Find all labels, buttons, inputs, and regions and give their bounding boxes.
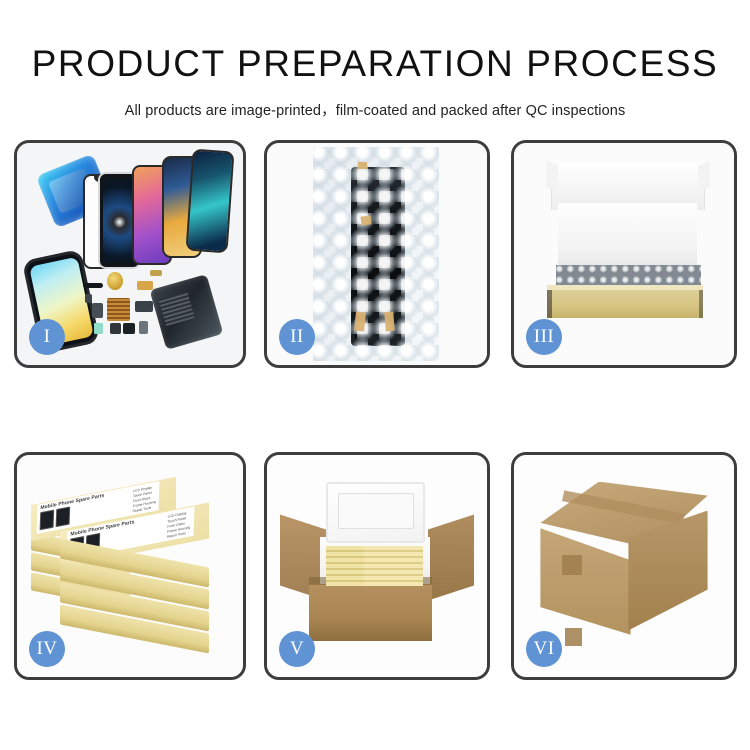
foam-box-lid <box>326 482 425 544</box>
part-flex-cable <box>137 281 153 290</box>
part-camera-module <box>110 323 121 334</box>
box-label-bullets-2: LCD Display Touch Panel Front Glass Fram… <box>167 511 191 541</box>
part-connector-grid <box>107 298 130 320</box>
process-step-6: VI <box>511 452 737 680</box>
tape-strip-top <box>358 162 367 168</box>
carton-tape-patch-lower <box>565 628 583 646</box>
part-shield-can <box>135 301 153 312</box>
product-preparation-infographic: PRODUCT PREPARATION PROCESS All products… <box>0 0 750 750</box>
carton-front-panel <box>309 584 432 642</box>
step-badge-2: II <box>279 319 315 355</box>
phone-gradient-teal <box>185 148 234 252</box>
process-step-1: I <box>14 140 246 368</box>
part-speaker <box>83 283 103 289</box>
tape-strip-middle <box>360 215 371 225</box>
process-step-grid: I II <box>0 0 750 750</box>
process-step-5: V <box>264 452 490 680</box>
process-step-3: III <box>511 140 737 368</box>
carton-flap-right <box>428 514 474 600</box>
kraft-box-base <box>547 290 703 319</box>
step-badge-6: VI <box>526 631 562 667</box>
yellow-boxes-row-front <box>364 546 423 586</box>
tape-strip-bottom-left <box>354 311 366 331</box>
carton-tape-patch-upper <box>562 555 582 575</box>
process-step-4: Mobile Phone Spare Parts LCD Display Tou… <box>14 452 246 680</box>
part-bracket <box>92 303 103 319</box>
bubble-wrap-bag <box>313 147 438 360</box>
tape-strip-bottom-right <box>384 311 394 331</box>
part-button <box>123 323 134 334</box>
step-badge-4: IV <box>29 631 65 667</box>
box-label-bullets-1: LCD Display Touch Panel Front Glass Fram… <box>133 484 157 514</box>
part-gold-contact <box>150 270 161 277</box>
part-antenna <box>85 294 92 303</box>
part-sim-tray <box>94 323 103 334</box>
step-badge-5: V <box>279 631 315 667</box>
label-thumb-screen <box>56 506 71 527</box>
label-thumb-phone <box>40 509 55 530</box>
part-screw-set <box>139 321 148 334</box>
foam-sheet-white <box>558 203 697 270</box>
step-badge-3: III <box>526 319 562 355</box>
part-vibration-motor <box>107 272 123 290</box>
bubble-texture <box>313 147 438 360</box>
process-step-2: II <box>264 140 490 368</box>
step-badge-1: I <box>29 319 65 355</box>
